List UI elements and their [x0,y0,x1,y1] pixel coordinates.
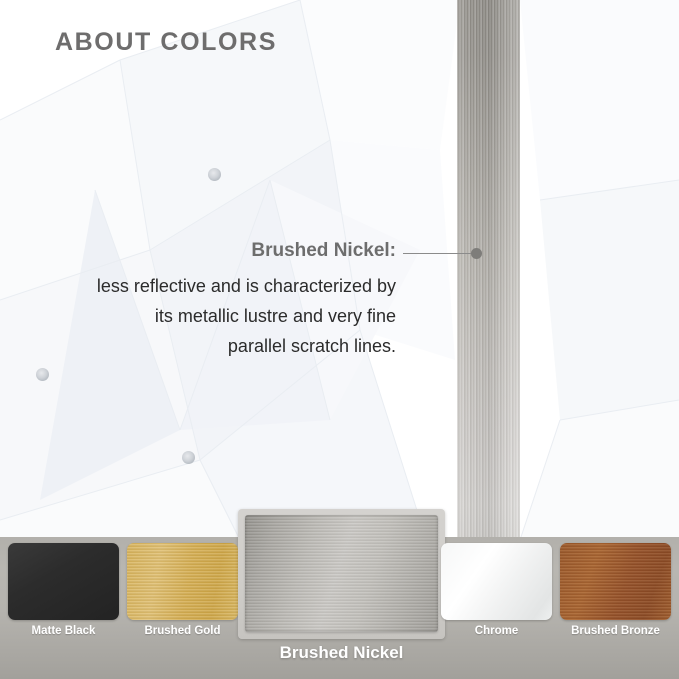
annotation-heading: Brushed Nickel: [0,238,404,264]
swatch-label-brushed-nickel: Brushed Nickel [238,643,445,663]
color-swatch-bar: Matte Black Brushed Gold Brushed Nickel … [0,537,679,679]
about-colors-panel: ABOUT COLORS Brushed Nickel: less reflec… [0,0,679,679]
decorative-dot [182,451,195,464]
annotation-callout: Brushed Nickel: less reflective and is c… [0,238,404,361]
swatch-brushed-gold[interactable] [127,543,238,620]
swatch-label-matte-black: Matte Black [8,625,119,637]
decorative-dot [36,368,49,381]
swatch-brushed-bronze[interactable] [560,543,671,620]
callout-leader-line [403,253,476,254]
annotation-body-text: less reflective and is characterized by … [0,271,404,361]
swatch-label-brushed-bronze: Brushed Bronze [560,625,671,637]
swatch-chrome[interactable] [441,543,552,620]
swatch-label-chrome: Chrome [441,625,552,637]
swatch-matte-black[interactable] [8,543,119,620]
brushed-nickel-material-strip [457,0,520,537]
strip-sheen-overlay [457,0,520,537]
swatch-brushed-nickel[interactable] [245,515,438,632]
swatch-label-brushed-gold: Brushed Gold [127,625,238,637]
callout-leader-dot [471,248,482,259]
decorative-dot [208,168,221,181]
swatch-card-brushed-nickel-selected[interactable] [238,509,445,639]
page-title: ABOUT COLORS [55,28,277,57]
